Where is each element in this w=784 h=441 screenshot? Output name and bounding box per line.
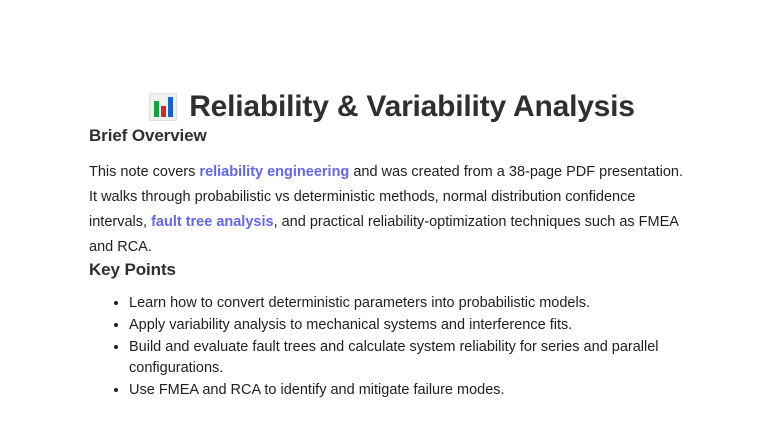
bar-chart-bar-red bbox=[161, 106, 166, 117]
list-item: Learn how to convert deterministic param… bbox=[129, 293, 695, 314]
list-item: Use FMEA and RCA to identify and mitigat… bbox=[129, 380, 695, 401]
highlight-fault-tree-analysis[interactable]: fault tree analysis bbox=[151, 214, 274, 230]
bar-chart-bar-blue bbox=[168, 97, 173, 117]
list-item: Build and evaluate fault trees and calcu… bbox=[129, 337, 695, 379]
bar-chart-icon bbox=[149, 93, 177, 121]
document-page: Reliability & Variability Analysis Brief… bbox=[0, 0, 784, 441]
bar-chart-bar-green bbox=[154, 101, 159, 117]
page-title: Reliability & Variability Analysis bbox=[0, 0, 784, 126]
paragraph-text-part-1: This note covers bbox=[89, 164, 199, 180]
brief-overview-paragraph: This note covers reliability engineering… bbox=[89, 160, 689, 260]
document-content: Brief Overview This note covers reliabil… bbox=[0, 126, 784, 401]
list-item: Apply variability analysis to mechanical… bbox=[129, 315, 695, 336]
key-points-list: Learn how to convert deterministic param… bbox=[89, 293, 695, 401]
highlight-reliability-engineering[interactable]: reliability engineering bbox=[199, 164, 349, 180]
page-title-text: Reliability & Variability Analysis bbox=[189, 88, 635, 126]
section-heading-brief-overview: Brief Overview bbox=[89, 126, 695, 146]
section-heading-key-points: Key Points bbox=[89, 260, 695, 280]
